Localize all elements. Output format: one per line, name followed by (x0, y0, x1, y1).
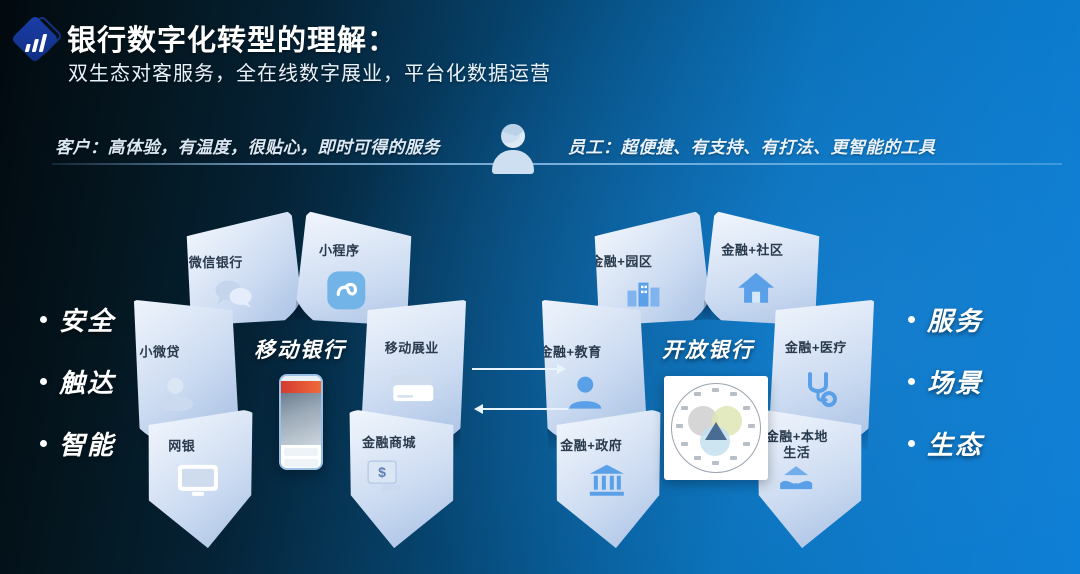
student-person-icon (565, 375, 605, 411)
mini-program-icon (326, 270, 366, 310)
bullet-left-label-3: 智能 (59, 425, 115, 462)
bullets-right: 服务 场景 生态 (908, 288, 983, 474)
diamond-bars-logo-icon (14, 18, 60, 64)
wechat-bubble-icon (214, 277, 254, 307)
monitor-icon (176, 463, 220, 499)
persona-employee-text: 员工：超便捷、有支持、有打法、更智能的工具 (568, 133, 936, 158)
page-title: 银行数字化转型的理解： (67, 17, 397, 59)
arrow-left-icon (482, 408, 568, 410)
petal-label: 金融+本地 生活 (766, 429, 828, 460)
bullet-right-label-1: 服务 (927, 301, 983, 338)
slide-canvas: 银行数字化转型的理解： 双生态对客服务，全在线数字展业，平台化数据运营 客户：高… (0, 0, 1080, 574)
petal-label: 金融+社区 (721, 242, 783, 258)
bullet-left-label-2: 触达 (59, 363, 115, 400)
buildings-icon (625, 277, 663, 307)
cluster-open-bank: 金融+园区 金融+社区 (528, 222, 888, 542)
petal-label: 金融商城 (362, 435, 416, 451)
bullet-dot-icon (908, 378, 915, 385)
petal-label: 金融+政府 (560, 438, 622, 454)
bullet-right-1: 服务 (908, 288, 983, 350)
bullet-dot-icon (908, 440, 915, 447)
stethoscope-icon (801, 371, 839, 409)
cluster-mobile-bank: 微信银行 小程序 小微贷 (120, 222, 480, 542)
venn-circle-card (664, 376, 768, 480)
house-icon (737, 271, 775, 305)
bullet-dot-icon (40, 378, 47, 385)
bullet-dot-icon (40, 316, 47, 323)
person-loan-icon (153, 375, 197, 411)
bullet-left-1: 安全 (40, 288, 115, 350)
petal-label: 金融+园区 (590, 254, 652, 270)
arrow-right-icon (472, 368, 558, 370)
petal-label: 网银 (168, 438, 195, 454)
persona-customer-text: 客户：高体验，有温度，很贴心，即时可得的服务 (55, 133, 440, 158)
petal-finance-mall[interactable]: 金融商城 $ (325, 408, 466, 555)
page-subtitle: 双生态对客服务，全在线数字展业，平台化数据运营 (68, 57, 551, 86)
bullets-left: 安全 触达 智能 (40, 288, 115, 474)
government-bank-icon (588, 463, 626, 497)
bullet-left-3: 智能 (40, 412, 115, 474)
petal-label: 微信银行 (189, 255, 243, 271)
bullet-right-label-3: 生态 (927, 425, 983, 462)
handshake-local-icon (776, 463, 816, 495)
bullet-left-label-1: 安全 (59, 301, 115, 338)
person-avatar-icon (489, 124, 537, 174)
svg-text:$: $ (378, 464, 386, 480)
payment-dollar-icon: $ (366, 459, 408, 499)
bullet-right-2: 场景 (908, 350, 983, 412)
bullet-left-2: 触达 (40, 350, 115, 412)
petal-online-bank[interactable]: 网银 (135, 408, 276, 555)
bullet-dot-icon (908, 316, 915, 323)
bullet-right-3: 生态 (908, 412, 983, 474)
cluster-center-label-open: 开放银行 (528, 334, 888, 364)
cluster-center-label-mobile: 移动银行 (120, 334, 480, 364)
phone-mockup (279, 374, 323, 470)
exchange-arrows (470, 356, 570, 422)
bullet-right-label-2: 场景 (927, 363, 983, 400)
persona-divider (52, 163, 1062, 165)
bullet-dot-icon (40, 440, 47, 447)
petal-label: 小程序 (319, 243, 360, 259)
credit-card-icon (389, 371, 435, 405)
